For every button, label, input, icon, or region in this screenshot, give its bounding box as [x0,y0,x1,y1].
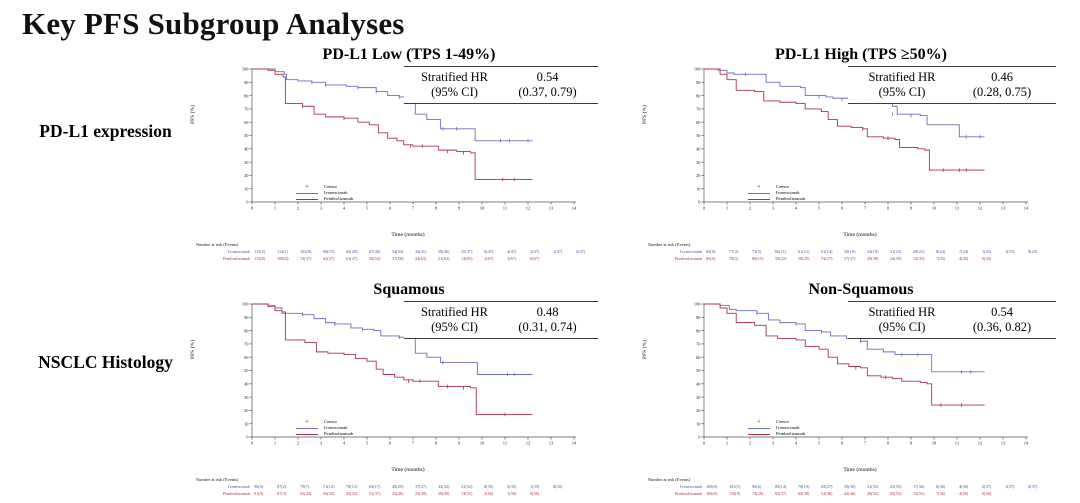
legend-item: Pembrolizumab [746,196,805,202]
risk-cell: 72(37) [300,256,323,262]
svg-text:10: 10 [932,441,937,446]
x-axis-label: Time (months) [690,467,1030,473]
legend-line-swatch [746,199,772,200]
panel-pdl1-low: PD-L1 Low (TPS 1-49%) PFS (%) 0102030405… [196,46,596,268]
hr-label-line2: (95% CI) [408,85,501,100]
legend-item: Pembrolizumab [294,431,353,437]
svg-text:5: 5 [818,441,821,446]
number-at-risk-table: Number at risk (Events)Ivonescimab90(0)8… [196,477,596,497]
svg-text:2: 2 [749,206,752,211]
risk-cell: 12(55) [913,491,936,497]
censor-plus-icon: + [294,419,320,425]
svg-text:50: 50 [244,133,249,138]
y-axis-label: PFS (%) [642,340,648,359]
page-title: Key PFS Subgroup Analyses [22,6,405,42]
svg-text:90: 90 [244,315,249,320]
hr-label-line2: (95% CI) [852,320,952,335]
stratified-hr-box: Stratified HR 0.54 (95% CI) (0.37, 0.79) [404,66,598,104]
svg-text:7: 7 [412,206,415,211]
svg-text:40: 40 [696,382,701,387]
hr-value: 0.54 [501,70,594,85]
svg-text:5: 5 [366,441,369,446]
row-label-pdl1-expression: PD-L1 expression [8,121,203,142]
censor-plus-icon: + [294,184,320,190]
risk-values: 91(0)87(3)65(24)56(32)55(32)51(37)32(46)… [254,491,596,497]
svg-text:6: 6 [841,206,844,211]
svg-text:4: 4 [343,206,346,211]
risk-cell: 78(5) [729,256,752,262]
risk-arm-label: Pembrolizumab [196,256,254,262]
svg-text:1: 1 [726,441,729,446]
svg-text:30: 30 [696,160,701,165]
risk-cell: 110(0) [729,491,752,497]
risk-values: 109(0)110(0)74(28)65(37)64(38)52(46)42(4… [706,491,1048,497]
svg-text:30: 30 [244,395,249,400]
svg-text:20: 20 [696,173,701,178]
svg-text:70: 70 [696,342,701,347]
risk-cell: 25(53) [890,491,913,497]
svg-text:7: 7 [412,441,415,446]
svg-text:20: 20 [696,408,701,413]
risk-cell: 20(49) [438,491,461,497]
svg-text:8: 8 [435,206,438,211]
svg-text:7: 7 [864,206,867,211]
risk-cell: 52(46) [821,491,844,497]
risk-cell: 28(52) [867,491,890,497]
svg-text:4: 4 [795,206,798,211]
svg-text:1: 1 [274,441,277,446]
svg-text:100: 100 [694,302,701,307]
risk-cell: 109(0) [706,491,729,497]
number-at-risk-table: Number at risk (Events)Ivonescimab115(0)… [196,242,596,262]
risk-table-row: Pembrolizumab85(0)78(5)69(15)59(22)58(25… [648,256,1048,262]
risk-values: 115(0)108(4)72(37)62(47)61(47)50(54)37(5… [254,256,596,262]
svg-text:20: 20 [244,173,249,178]
risk-arm-label: Pembrolizumab [648,491,706,497]
censor-plus-icon: + [746,419,772,425]
panel-title: Non-Squamous [648,281,1048,299]
hr-label-line1: Stratified HR [852,70,952,85]
svg-text:13: 13 [549,206,554,211]
legend-line-swatch [294,193,320,194]
svg-text:12: 12 [978,441,983,446]
svg-text:9: 9 [458,206,461,211]
risk-cell: 1(56) [507,491,530,497]
risk-cell: 13(65) [461,256,484,262]
svg-text:0: 0 [703,206,706,211]
svg-text:0: 0 [246,200,249,205]
risk-cell: 4(56) [959,491,982,497]
y-axis-label: PFS (%) [190,340,196,359]
risk-cell: 0(67) [530,256,553,262]
risk-cell: 0(56) [530,491,553,497]
risk-table-title: Number at risk (Events) [196,477,596,484]
risk-cell: 29(38) [867,256,890,262]
risk-table-title: Number at risk (Events) [196,242,596,249]
svg-text:10: 10 [244,421,249,426]
hr-value: 0.46 [952,70,1052,85]
risk-cell: 74(28) [752,491,775,497]
risk-cell: 59(22) [775,256,798,262]
svg-text:11: 11 [955,206,960,211]
svg-text:13: 13 [1001,206,1006,211]
hr-ci: (0.37, 0.79) [501,85,594,100]
svg-text:5: 5 [366,206,369,211]
svg-text:9: 9 [458,441,461,446]
svg-text:100: 100 [242,67,249,72]
svg-text:50: 50 [696,368,701,373]
stratified-hr-box: Stratified HR 0.46 (95% CI) (0.28, 0.75) [848,66,1056,104]
svg-text:2: 2 [297,441,300,446]
risk-cell: 24(39) [890,256,913,262]
x-axis-label: Time (months) [690,232,1030,238]
hr-value: 0.48 [501,305,594,320]
svg-text:50: 50 [244,368,249,373]
svg-text:12: 12 [526,206,531,211]
stratified-hr-box: Stratified HR 0.54 (95% CI) (0.36, 0.82) [848,301,1056,339]
risk-cell: 50(54) [369,256,392,262]
svg-text:60: 60 [696,120,701,125]
svg-text:90: 90 [696,80,701,85]
legend-line-swatch [746,428,772,429]
risk-cell: 58(25) [798,256,821,262]
svg-text:12: 12 [526,441,531,446]
svg-text:3: 3 [320,206,323,211]
svg-text:70: 70 [244,342,249,347]
svg-text:80: 80 [244,328,249,333]
x-axis-label: Time (months) [238,467,578,473]
risk-table-row: Pembrolizumab91(0)87(3)65(24)56(32)55(32… [196,491,596,497]
risk-cell: 2(67) [484,256,507,262]
risk-cell: 1(67) [507,256,530,262]
svg-text:6: 6 [841,441,844,446]
svg-text:60: 60 [244,120,249,125]
svg-text:6: 6 [389,206,392,211]
svg-text:0: 0 [698,435,701,440]
svg-text:10: 10 [932,206,937,211]
svg-text:100: 100 [694,67,701,72]
svg-text:6: 6 [389,441,392,446]
risk-cell: 91(0) [254,491,277,497]
svg-text:1: 1 [274,206,277,211]
svg-text:8: 8 [887,441,890,446]
svg-text:90: 90 [244,80,249,85]
svg-text:80: 80 [244,93,249,98]
chart-legend: +CensorIvonescimabPembrolizumab [746,184,805,202]
legend-label: Pembrolizumab [320,430,353,437]
svg-text:5: 5 [818,206,821,211]
risk-cell: 0(56) [982,491,1005,497]
svg-text:8: 8 [887,206,890,211]
svg-text:20: 20 [244,408,249,413]
svg-text:10: 10 [696,421,701,426]
legend-label: Pembrolizumab [772,195,805,202]
svg-text:0: 0 [251,441,254,446]
risk-arm-label: Pembrolizumab [196,491,254,497]
risk-table-row: Pembrolizumab115(0)108(4)72(37)62(47)61(… [196,256,596,262]
svg-text:60: 60 [244,355,249,360]
risk-cell: 2(56) [484,491,507,497]
risk-cell: 64(38) [798,491,821,497]
risk-cell: 115(0) [254,256,277,262]
legend-line-swatch [294,199,320,200]
risk-cell: 37(58) [392,256,415,262]
svg-text:80: 80 [696,328,701,333]
risk-cell: 85(0) [706,256,729,262]
svg-text:2: 2 [749,441,752,446]
legend-item: Pembrolizumab [294,196,353,202]
svg-text:11: 11 [503,441,508,446]
panel-title: Squamous [196,281,596,299]
risk-cell: 108(4) [277,256,300,262]
svg-text:3: 3 [320,441,323,446]
risk-arm-label: Pembrolizumab [648,256,706,262]
hr-label-line2: (95% CI) [408,320,501,335]
risk-cell: 21(63) [438,256,461,262]
panel-squamous: Squamous PFS (%) 01020304050607080901000… [196,281,596,503]
hr-label-line1: Stratified HR [408,305,501,320]
svg-text:1: 1 [726,206,729,211]
svg-text:100: 100 [242,302,249,307]
svg-text:13: 13 [549,441,554,446]
svg-text:8: 8 [435,441,438,446]
svg-text:10: 10 [480,206,485,211]
risk-cell: 42(46) [844,491,867,497]
risk-cell: 53(27) [821,256,844,262]
hr-label-line1: Stratified HR [408,70,501,85]
risk-cell: 56(32) [323,491,346,497]
chart-legend: +CensorIvonescimabPembrolizumab [746,419,805,437]
svg-text:10: 10 [696,186,701,191]
svg-text:3: 3 [772,441,775,446]
slide-root: Key PFS Subgroup Analyses PD-L1 expressi… [0,0,1080,491]
chart-legend: +CensorIvonescimabPembrolizumab [294,184,353,202]
legend-line-swatch [746,434,772,435]
legend-line-swatch [746,193,772,194]
x-axis-label: Time (months) [238,232,578,238]
svg-text:3: 3 [772,206,775,211]
risk-table-title: Number at risk (Events) [648,242,1048,249]
legend-item: Pembrolizumab [746,431,805,437]
svg-text:14: 14 [572,206,577,211]
y-axis-label: PFS (%) [642,105,648,124]
svg-text:11: 11 [955,441,960,446]
svg-text:0: 0 [698,200,701,205]
stratified-hr-box: Stratified HR 0.48 (95% CI) (0.31, 0.74) [404,301,598,339]
svg-text:10: 10 [480,441,485,446]
risk-cell: 12(43) [913,256,936,262]
risk-cell: 25(49) [415,491,438,497]
risk-cell: 61(47) [346,256,369,262]
svg-text:0: 0 [703,441,706,446]
panel-title: PD-L1 Low (TPS 1-49%) [196,46,596,64]
legend-label: Pembrolizumab [320,195,353,202]
svg-text:50: 50 [696,133,701,138]
svg-text:14: 14 [572,441,577,446]
svg-text:40: 40 [244,382,249,387]
svg-text:9: 9 [910,206,913,211]
svg-text:0: 0 [246,435,249,440]
risk-table-row: Pembrolizumab109(0)110(0)74(28)65(37)64(… [648,491,1048,497]
risk-cell: 32(46) [392,491,415,497]
hr-ci: (0.28, 0.75) [952,85,1052,100]
svg-text:12: 12 [978,206,983,211]
svg-text:7: 7 [864,441,867,446]
risk-cell: 24(63) [415,256,438,262]
hr-value: 0.54 [952,305,1052,320]
risk-cell: 87(3) [277,491,300,497]
hr-label-line1: Stratified HR [852,305,952,320]
risk-cell: 55(32) [346,491,369,497]
risk-cell: 7(43) [936,256,959,262]
svg-text:14: 14 [1024,441,1029,446]
svg-text:14: 14 [1024,206,1029,211]
risk-cell: 0(45) [982,256,1005,262]
panel-title: PD-L1 High (TPS ≥50%) [648,46,1048,64]
svg-text:0: 0 [251,206,254,211]
chart-legend: +CensorIvonescimabPembrolizumab [294,419,353,437]
svg-text:9: 9 [910,441,913,446]
svg-text:70: 70 [696,107,701,112]
risk-cell: 65(24) [300,491,323,497]
risk-cell: 62(47) [323,256,346,262]
risk-cell: 37(37) [844,256,867,262]
hr-ci: (0.31, 0.74) [501,320,594,335]
svg-text:60: 60 [696,355,701,360]
legend-line-swatch [294,428,320,429]
svg-text:2: 2 [297,206,300,211]
risk-cell: 65(37) [775,491,798,497]
svg-text:80: 80 [696,93,701,98]
legend-line-swatch [294,434,320,435]
y-axis-label: PFS (%) [190,105,196,124]
svg-text:70: 70 [244,107,249,112]
risk-cell: 7(56) [936,491,959,497]
svg-text:11: 11 [503,206,508,211]
number-at-risk-table: Number at risk (Events)Ivonescimab108(0)… [648,477,1048,497]
risk-cell: 13(51) [461,491,484,497]
svg-text:40: 40 [244,147,249,152]
risk-values: 85(0)78(5)69(15)59(22)58(25)53(27)37(37)… [706,256,1048,262]
svg-text:10: 10 [244,186,249,191]
svg-text:13: 13 [1001,441,1006,446]
risk-table-title: Number at risk (Events) [648,477,1048,484]
number-at-risk-table: Number at risk (Events)Ivonescimab83(0)7… [648,242,1048,262]
panel-pdl1-high: PD-L1 High (TPS ≥50%) PFS (%) 0102030405… [648,46,1048,268]
svg-text:90: 90 [696,315,701,320]
row-label-nsclc-histology: NSCLC Histology [8,352,203,373]
risk-cell: 51(37) [369,491,392,497]
hr-ci: (0.36, 0.82) [952,320,1052,335]
legend-label: Pembrolizumab [772,430,805,437]
svg-text:30: 30 [244,160,249,165]
risk-cell: 4(45) [959,256,982,262]
svg-text:4: 4 [795,441,798,446]
censor-plus-icon: + [746,184,772,190]
svg-text:30: 30 [696,395,701,400]
svg-text:4: 4 [343,441,346,446]
panel-non-squamous: Non-Squamous PFS (%) 0102030405060708090… [648,281,1048,503]
hr-label-line2: (95% CI) [852,85,952,100]
svg-text:40: 40 [696,147,701,152]
risk-cell: 69(15) [752,256,775,262]
